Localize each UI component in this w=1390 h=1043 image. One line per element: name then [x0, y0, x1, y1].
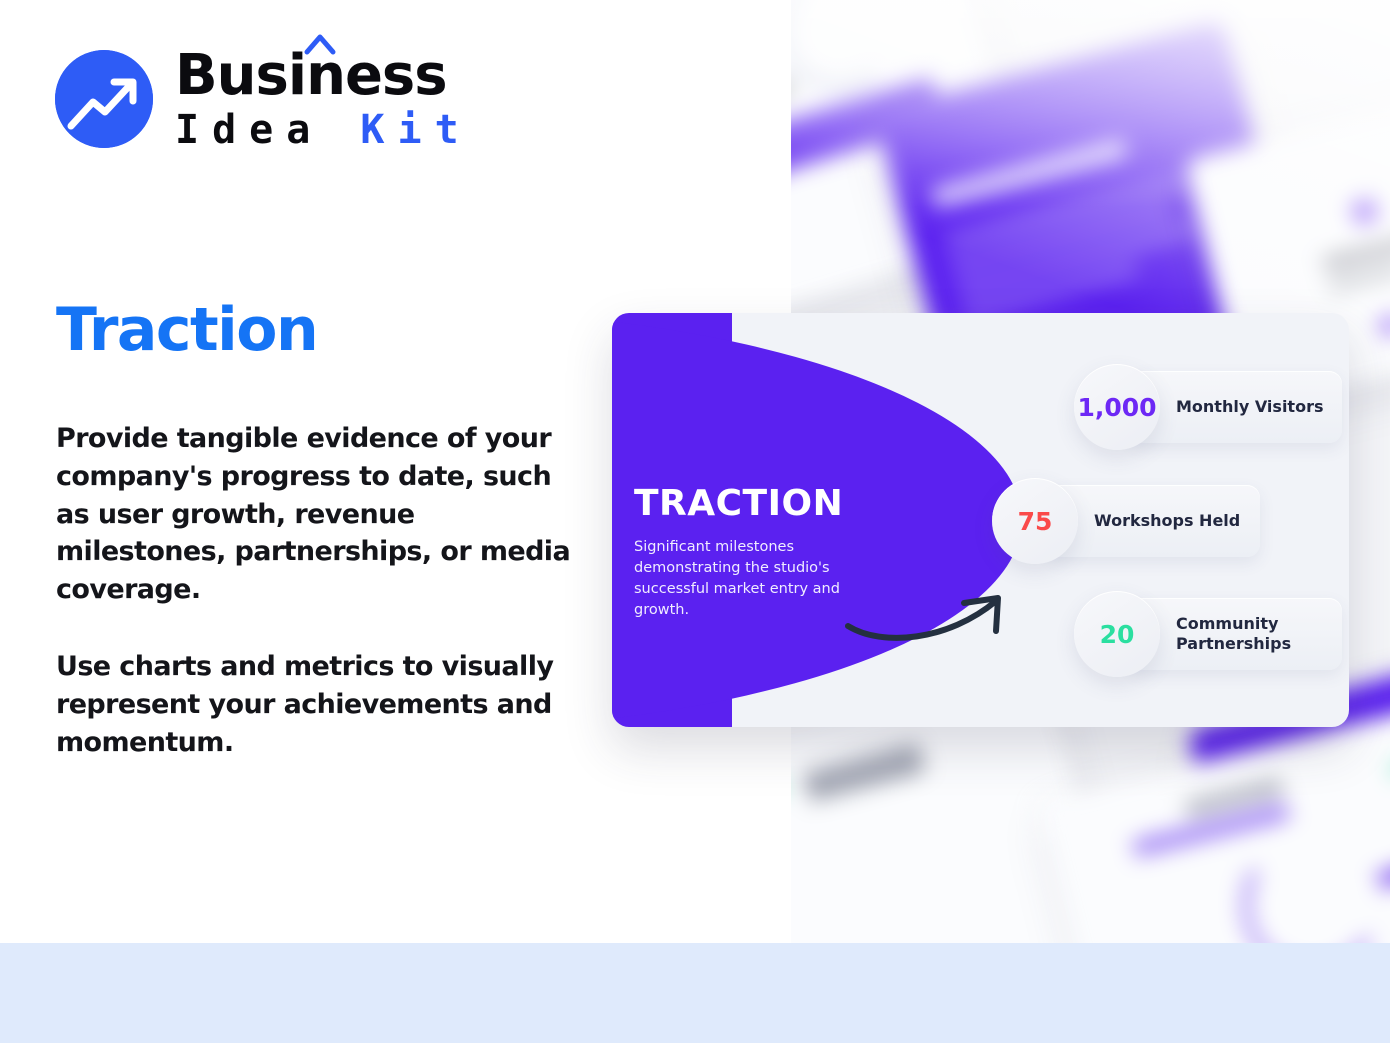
- metric-circle: 1,000: [1074, 364, 1160, 450]
- metric-pill: Community Partnerships: [1130, 598, 1342, 670]
- metric-value: 20: [1100, 620, 1135, 649]
- metric-label: Workshops Held: [1094, 511, 1240, 531]
- metric-row[interactable]: Monthly Visitors 1,000: [1062, 364, 1342, 450]
- growth-chart-circle-icon: [55, 50, 153, 148]
- brand-line-2-dark: Idea: [175, 107, 360, 153]
- decor-dot: [1378, 313, 1390, 337]
- metric-circle: 20: [1074, 591, 1160, 677]
- metric-value: 1,000: [1077, 393, 1156, 422]
- brand-line-2-accent: Kit: [360, 107, 471, 153]
- slide-page: Business Idea Kit Traction Provide tangi…: [0, 0, 1390, 1043]
- metric-label: Monthly Visitors: [1176, 397, 1323, 417]
- metric-label: Community Partnerships: [1176, 614, 1296, 654]
- metric-list: Monthly Visitors 1,000 Workshops Held 75…: [612, 313, 1349, 727]
- brand-line-2: Idea Kit: [175, 110, 472, 150]
- metric-circle: 75: [992, 478, 1078, 564]
- body-paragraph-2: Use charts and metrics to visually repre…: [56, 648, 576, 761]
- footer-band: [0, 943, 1390, 1043]
- metric-row[interactable]: Workshops Held 75: [992, 478, 1272, 564]
- donut-chart-decor: [791, 0, 904, 96]
- traction-slide-card[interactable]: TRACTION Significant milestones demonstr…: [612, 313, 1349, 727]
- metric-pill: Monthly Visitors: [1130, 371, 1342, 443]
- metric-row[interactable]: Community Partnerships 20: [1062, 591, 1342, 677]
- decor-bar: [802, 743, 926, 803]
- body-paragraph-1: Provide tangible evidence of your compan…: [56, 420, 576, 609]
- metric-value: 75: [1018, 507, 1053, 536]
- page-title: Traction: [56, 295, 317, 365]
- decor-bar: [1322, 231, 1390, 271]
- metric-pill: Workshops Held: [1048, 485, 1260, 557]
- circumflex-accent-icon: [301, 30, 341, 64]
- decor-dot: [1349, 195, 1381, 227]
- brand-logo[interactable]: Business Idea Kit: [55, 48, 472, 150]
